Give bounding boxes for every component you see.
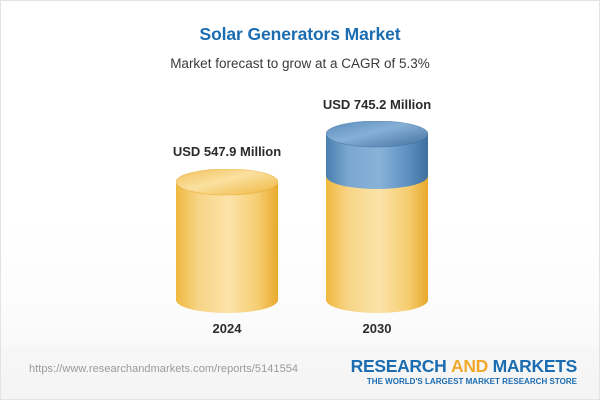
brand-tagline: THE WORLD'S LARGEST MARKET RESEARCH STOR… (351, 377, 577, 386)
brand-word-markets: MARKETS (493, 356, 577, 376)
bar-value-label: USD 547.9 Million (157, 144, 297, 159)
footer-bar: https://www.researchandmarkets.com/repor… (1, 345, 599, 399)
bar-value-label: USD 745.2 Million (307, 97, 447, 112)
cylinder-bar-2030[interactable] (326, 121, 428, 313)
axis-label-category: 2030 (307, 321, 447, 336)
brand-name: RESEARCH AND MARKETS (351, 356, 577, 376)
brand-logo[interactable]: RESEARCH AND MARKETS THE WORLD'S LARGEST… (351, 356, 577, 386)
brand-word-research: RESEARCH (351, 356, 447, 376)
brand-word-and: AND (451, 356, 488, 376)
axis-label-category: 2024 (157, 321, 297, 336)
cylinder-shape-icon (326, 121, 428, 313)
cylinder-shape-icon (176, 169, 278, 313)
infographic-card: Solar Generators Market Market forecast … (0, 0, 600, 400)
cylinder-bar-2024[interactable] (176, 169, 278, 313)
report-url-link[interactable]: https://www.researchandmarkets.com/repor… (29, 363, 298, 375)
bar-chart-plot-area: USD 547.9 Million (1, 1, 600, 346)
